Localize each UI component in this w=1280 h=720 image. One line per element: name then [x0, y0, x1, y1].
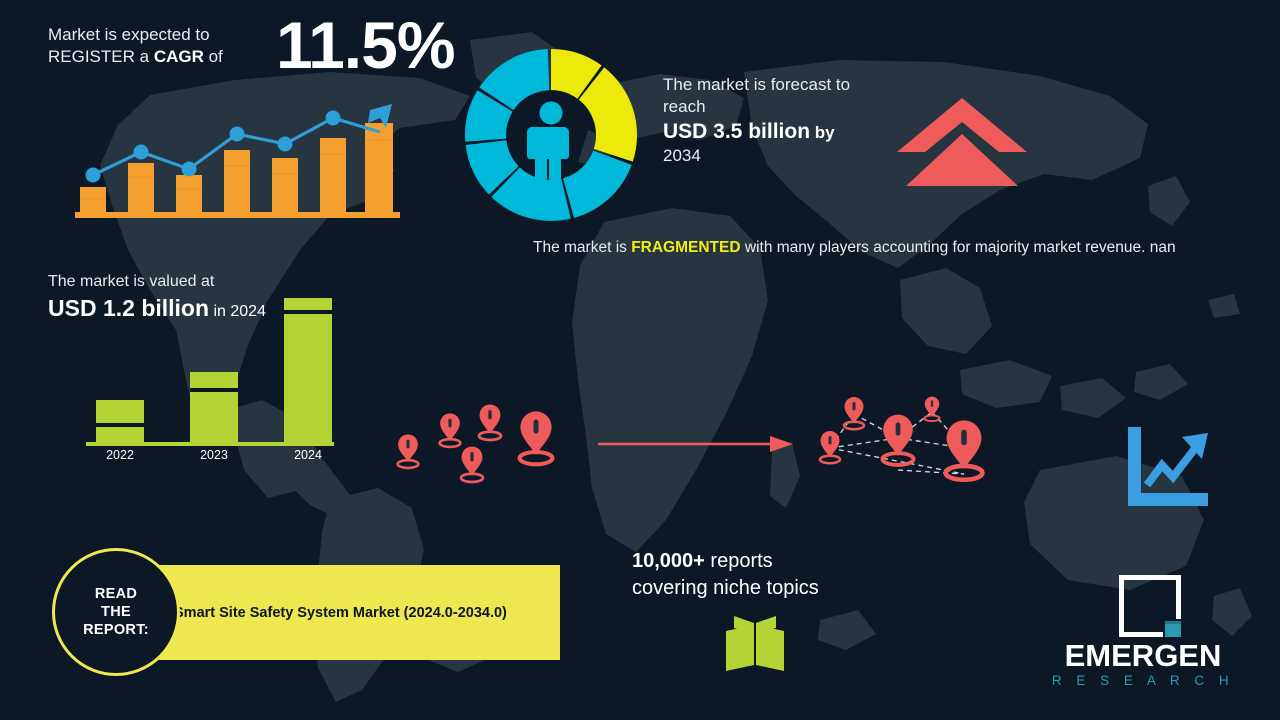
map-pin-person-icon [461, 447, 483, 482]
fragmented-statement: The market is FRAGMENTED with many playe… [533, 236, 1205, 259]
map-pin-person-icon [882, 415, 913, 465]
cagr-caption-line2-post: of [204, 47, 223, 66]
cagr-block: Market is expected to REGISTER a CAGR of… [48, 18, 468, 69]
map-pin-person-icon [946, 420, 983, 479]
cagr-value: 11.5% [276, 12, 455, 78]
cagr-caption-bold: CAGR [154, 47, 204, 66]
map-pin-person-icon [479, 405, 501, 440]
logo-name: EMERGEN [1043, 638, 1243, 674]
report-title: Smart Site Safety System Market (2024.0-… [174, 565, 507, 660]
map-pin-person-icon [520, 411, 553, 464]
forecast-line1: The market is forecast to [663, 74, 888, 96]
cagr-caption: Market is expected to REGISTER a CAGR of [48, 18, 263, 69]
scattered-map-pins [380, 388, 580, 498]
fragmented-post: with many players accounting for majorit… [741, 239, 1176, 256]
green-chart-baseline [86, 442, 334, 446]
growth-bar-line-chart [70, 82, 410, 222]
fragmented-pre: The market is [533, 239, 631, 256]
report-cta-bar[interactable]: Smart Site Safety System Market (2024.0-… [150, 565, 560, 660]
forecast-value: USD 3.5 billion [663, 120, 810, 143]
logo-subtitle: R E S E A R C H [1043, 673, 1243, 688]
emergen-research-logo: EMERGEN R E S E A R C H [1043, 575, 1243, 700]
read-label-line1: READ [95, 586, 137, 602]
map-pin-person-icon [440, 413, 461, 447]
forecast-value-row: USD 3.5 billion by [663, 118, 888, 145]
connected-map-pins-network [808, 386, 1013, 501]
trend-points [86, 111, 341, 183]
reports-count-suffix: reports [705, 550, 773, 572]
read-label-line3: REPORT: [83, 622, 149, 638]
green-chart-label-2024: 2024 [278, 448, 338, 462]
forecast-by: by [810, 123, 835, 142]
map-pin-person-icon [398, 434, 419, 468]
reports-count-text: 10,000+ reports covering niche topics [632, 548, 872, 602]
fragmented-highlight: FRAGMENTED [631, 239, 740, 256]
cagr-caption-line1: Market is expected to [48, 25, 210, 44]
cagr-caption-line2-pre: REGISTER a [48, 47, 154, 66]
map-pin-person-icon [924, 397, 939, 422]
map-pin-person-icon [820, 431, 840, 463]
infographic-canvas: Market is expected to REGISTER a CAGR of… [0, 0, 1280, 720]
forecast-line2: reach [663, 96, 888, 118]
reports-count-line2: covering niche topics [632, 577, 819, 599]
market-share-donut-chart [462, 46, 640, 224]
market-value-bar-chart: 2022 2023 2024 [80, 290, 340, 470]
reports-count-block: 10,000+ reports covering niche topics [632, 548, 872, 602]
chart-baseline [75, 212, 400, 218]
open-book-icon [718, 612, 792, 674]
double-chevron-up-icon [896, 96, 1028, 188]
logo-square-icon [1119, 575, 1181, 637]
green-chart-label-2022: 2022 [90, 448, 150, 462]
read-the-report-label: READ THE REPORT: [83, 585, 149, 639]
green-chart-label-2023: 2023 [184, 448, 244, 462]
forecast-block: The market is forecast to reach USD 3.5 … [663, 74, 888, 167]
forecast-year: 2034 [663, 145, 888, 167]
person-icon [527, 102, 569, 182]
green-bars [80, 290, 340, 470]
arrow-right-icon [598, 432, 793, 456]
read-the-report-button[interactable]: READ THE REPORT: [52, 548, 180, 676]
reports-count-number: 10,000+ [632, 550, 705, 572]
read-label-line2: THE [101, 604, 131, 620]
growth-chart-icon [1122, 425, 1214, 509]
